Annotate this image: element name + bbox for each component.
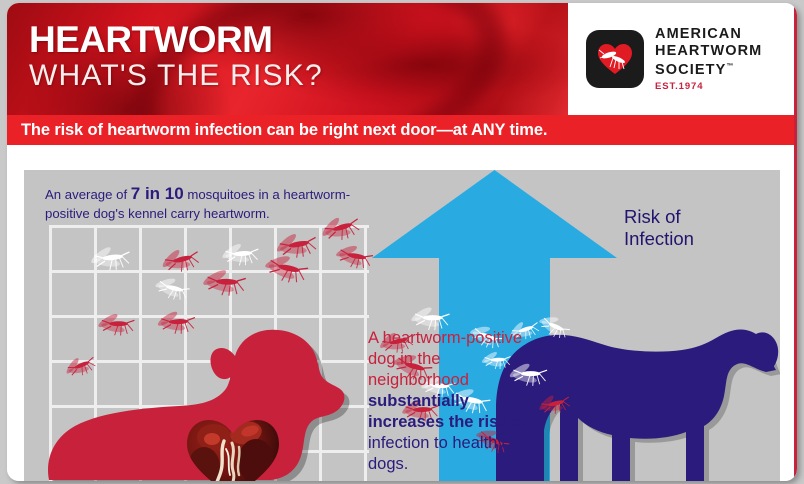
mosquito-clean bbox=[87, 241, 132, 275]
neighborhood-callout-red: A heartworm-positive dog in the neighbor… bbox=[368, 329, 522, 389]
infographic-card: HEARTWORM WHAT'S THE RISK? bbox=[7, 3, 797, 481]
page-title: HEARTWORM bbox=[29, 21, 323, 59]
tagline-text: The risk of heartworm infection can be r… bbox=[7, 121, 547, 140]
mosquito-infected bbox=[201, 266, 247, 297]
logo-society-text: SOCIETY bbox=[655, 62, 726, 78]
heart-icon bbox=[597, 43, 633, 75]
arrow-label-line2: Infection bbox=[624, 228, 694, 250]
heart-mosquito-logo-mark bbox=[586, 30, 644, 88]
card-right-edge-accent bbox=[794, 6, 797, 481]
kennel-callout: An average of 7 in 10 mosquitoes in a he… bbox=[45, 184, 365, 223]
logo-established: EST.1974 bbox=[655, 82, 762, 92]
kennel-callout-emphasis: 7 in 10 bbox=[131, 184, 184, 203]
logo-wordmark: AMERICAN HEARTWORM SOCIETY™ EST.1974 bbox=[655, 26, 762, 92]
header: HEARTWORM WHAT'S THE RISK? bbox=[7, 3, 797, 115]
neighborhood-callout: A heartworm-positive dog in the neighbor… bbox=[368, 328, 528, 475]
illustration-panel: Risk of Infection bbox=[24, 170, 780, 481]
arrow-label: Risk of Infection bbox=[624, 206, 694, 250]
ahs-logo[interactable]: AMERICAN HEARTWORM SOCIETY™ EST.1974 bbox=[568, 3, 797, 115]
mosquito-infected bbox=[334, 242, 374, 269]
kennel-callout-pre: An average of bbox=[45, 187, 131, 202]
mosquito-clean bbox=[535, 311, 573, 341]
mosquito-infected bbox=[96, 310, 136, 338]
page-subtitle: WHAT'S THE RISK? bbox=[29, 59, 323, 93]
mosquito-infected bbox=[262, 251, 309, 284]
body-area: Risk of Infection bbox=[7, 145, 797, 481]
infographic-root: HEARTWORM WHAT'S THE RISK? bbox=[0, 0, 804, 484]
mosquito-infected bbox=[155, 307, 197, 337]
tagline-banner: The risk of heartworm infection can be r… bbox=[7, 115, 797, 145]
mosquito-infected bbox=[535, 388, 573, 419]
mosquito-clean bbox=[153, 274, 191, 301]
arrow-label-line1: Risk of bbox=[624, 206, 694, 228]
neighborhood-callout-bold: substantially increases the risk bbox=[368, 392, 507, 431]
trademark-symbol: ™ bbox=[726, 63, 734, 70]
logo-line-heartworm: HEARTWORM bbox=[655, 43, 762, 60]
mosquito-infected bbox=[61, 349, 99, 382]
mosquito-clean bbox=[219, 239, 261, 270]
mosquito-infected bbox=[157, 242, 202, 279]
header-titles: HEARTWORM WHAT'S THE RISK? bbox=[29, 21, 323, 93]
logo-line-american: AMERICAN bbox=[655, 26, 762, 43]
logo-line-society: SOCIETY™ bbox=[655, 59, 762, 78]
